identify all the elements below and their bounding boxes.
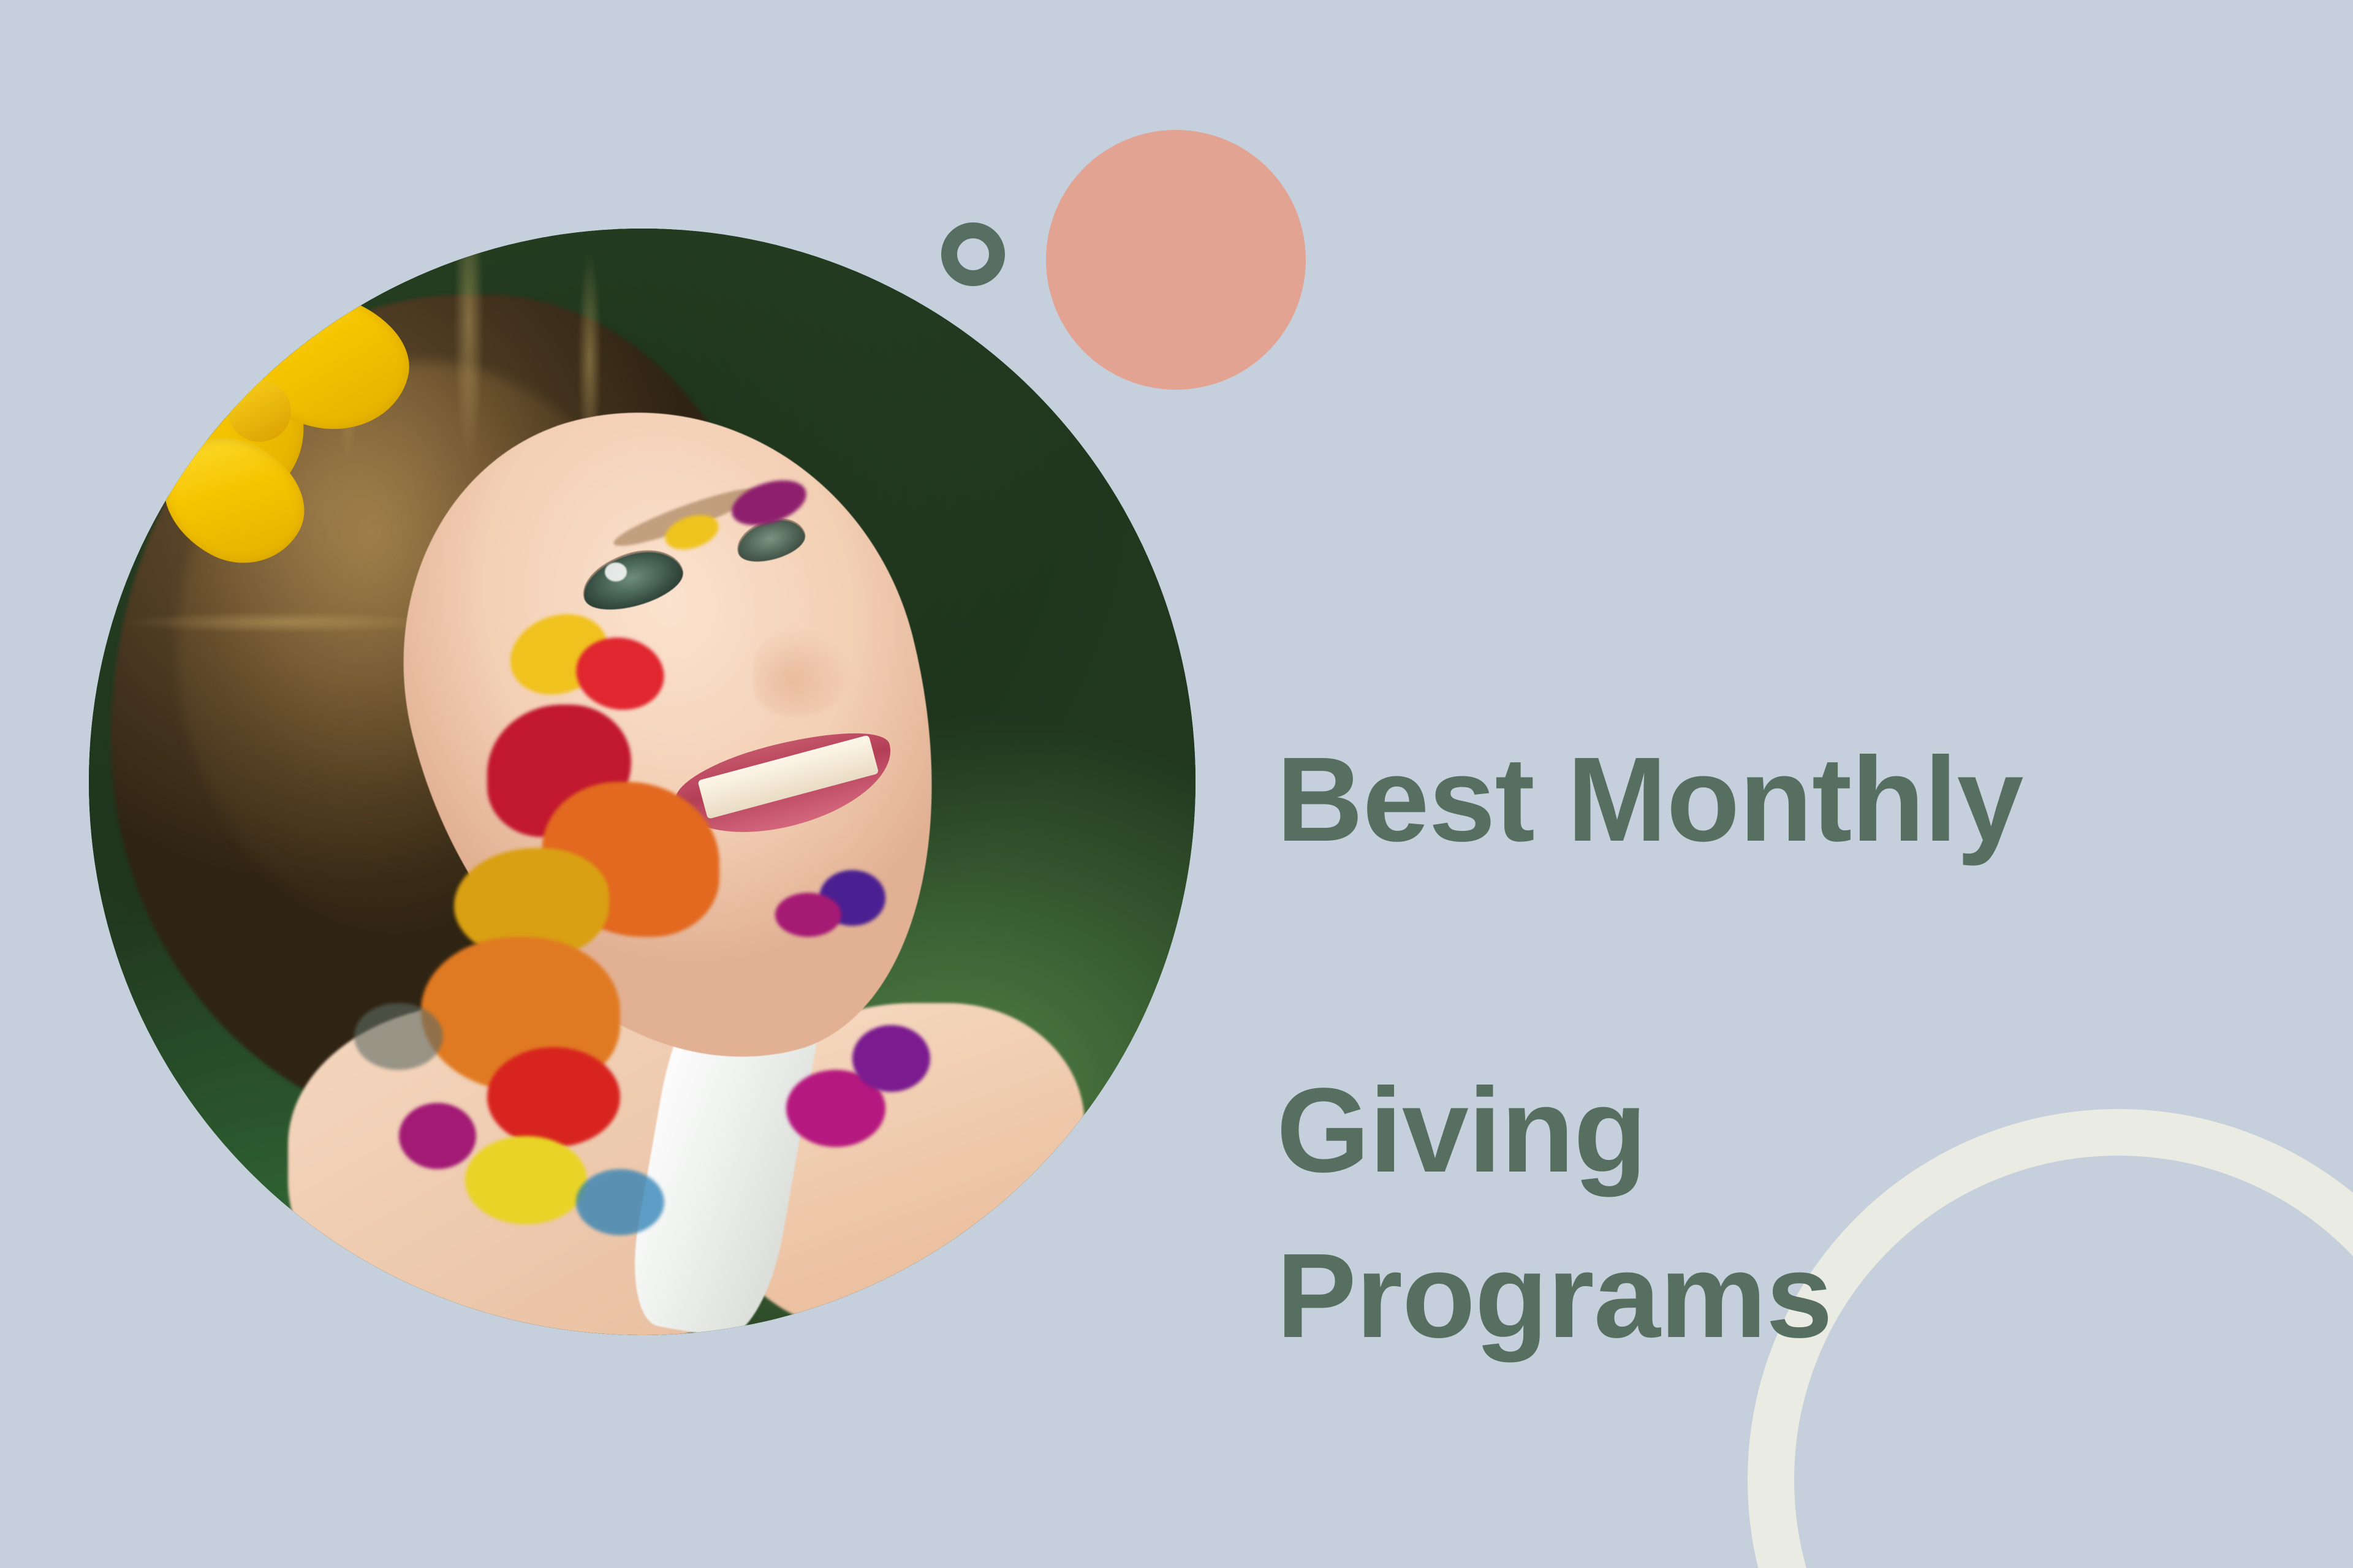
paint-splatter: [399, 1103, 476, 1169]
page-title-line-1: Best Monthly: [1276, 717, 2232, 882]
page-title: Best Monthly Giving Programs for Nonprof…: [1276, 551, 2232, 1568]
paint-splatter: [465, 1136, 587, 1224]
page-title-line-3: for Nonprofits: [1276, 1544, 2232, 1568]
page-title-line-2: Giving Programs: [1276, 1048, 2232, 1379]
salmon-circle-decoration: [1046, 130, 1306, 390]
paint-splatter: [487, 1047, 620, 1147]
green-ring-decoration: [941, 222, 1005, 286]
paint-splatter: [354, 1003, 442, 1069]
child-painting-photo: [89, 229, 1195, 1335]
paint-splatter: [775, 893, 841, 937]
bow-knot: [228, 381, 291, 442]
paint-splatter: [576, 1169, 664, 1235]
eye-glint: [605, 562, 627, 581]
poster-canvas: Best Monthly Giving Programs for Nonprof…: [0, 0, 2353, 1568]
yellow-hair-bow: [133, 284, 421, 538]
paint-splatter: [852, 1025, 930, 1091]
